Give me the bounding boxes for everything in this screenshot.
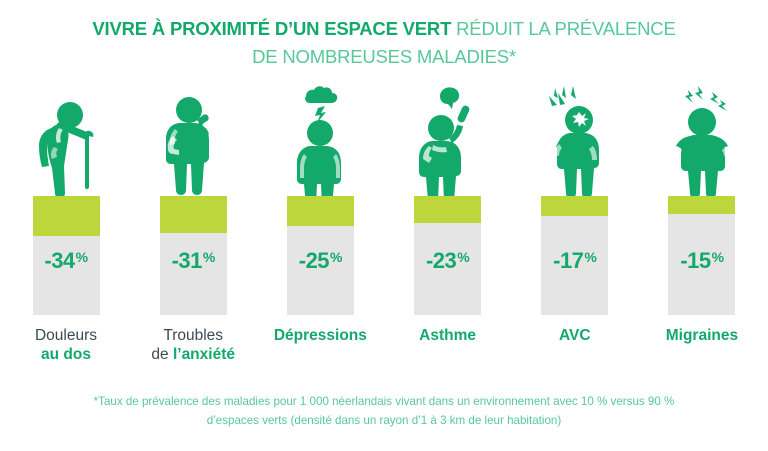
person-stroke-head-x-icon: [523, 78, 627, 196]
column-label: Troubles de l’anxiété: [128, 326, 258, 364]
bar-value-label: -34%: [33, 248, 100, 274]
chart-column-stroke: -17% AVC: [523, 78, 627, 368]
bar-migraine: -15%: [668, 196, 735, 315]
chart-column-depression: -25% Dépressions: [268, 78, 372, 368]
footnote-line-1: *Taux de prévalence des maladies pour 1 …: [94, 395, 675, 408]
bar-value-number: -25: [299, 248, 329, 273]
bar-fill: [668, 196, 735, 214]
chart-column-anxiety: -31% Troubles de l’anxiété: [141, 78, 245, 368]
chart-column-back-pain: -34% Douleurs au dos: [14, 78, 118, 368]
infographic-root: VIVRE À PROXIMITÉ D’UN ESPACE VERT RÉDUI…: [0, 0, 768, 451]
column-label: Migraines: [637, 326, 767, 345]
person-migraine-hands-head-icon: [650, 78, 754, 196]
bar-chart: -34% Douleurs au dos: [0, 78, 768, 368]
bar-stroke: -17%: [541, 196, 608, 315]
title-line-1: VIVRE À PROXIMITÉ D’UN ESPACE VERT RÉDUI…: [0, 16, 768, 44]
column-label-key: Migraines: [666, 327, 738, 344]
bar-value-label: -31%: [160, 248, 227, 274]
person-depression-storm-cloud-icon: [268, 78, 372, 196]
bar-value-percent: %: [712, 249, 724, 265]
column-label-key: au dos: [41, 346, 91, 363]
bar-value-label: -23%: [414, 248, 481, 274]
bar-fill: [541, 196, 608, 216]
chart-column-migraine: -15% Migraines: [650, 78, 754, 368]
person-back-pain-cane-icon: [14, 78, 118, 196]
column-label-prefix: de: [151, 346, 173, 363]
page-title: VIVRE À PROXIMITÉ D’UN ESPACE VERT RÉDUI…: [0, 16, 768, 70]
footnote-line-2: d’espaces verts (densité dans un rayon d…: [207, 414, 561, 427]
bar-value-percent: %: [584, 249, 596, 265]
column-label-key: Asthme: [419, 327, 476, 344]
column-label-key: AVC: [559, 327, 591, 344]
person-anxiety-nail-biting-icon: [141, 78, 245, 196]
column-label-plain: Troubles: [163, 327, 223, 344]
bar-value-percent: %: [76, 249, 88, 265]
footnote: *Taux de prévalence des maladies pour 1 …: [0, 392, 768, 430]
bar-fill: [33, 196, 100, 236]
bar-fill: [160, 196, 227, 233]
bar-fill: [287, 196, 354, 226]
column-label-key: l’anxiété: [173, 346, 235, 363]
bar-value-number: -34: [44, 248, 74, 273]
title-strong: VIVRE À PROXIMITÉ D’UN ESPACE VERT: [92, 18, 451, 39]
column-label-plain: Douleurs: [35, 327, 97, 344]
column-label: Dépressions: [255, 326, 385, 345]
column-label: Asthme: [383, 326, 513, 345]
title-light-2: DE NOMBREUSES MALADIES*: [0, 44, 768, 70]
bar-value-percent: %: [330, 249, 342, 265]
chart-column-asthma: -23% Asthme: [396, 78, 500, 368]
bar-value-number: -17: [553, 248, 583, 273]
bar-value-label: -17%: [541, 248, 608, 274]
bar-value-percent: %: [457, 249, 469, 265]
column-label-key: Dépressions: [274, 327, 367, 344]
bar-value-number: -31: [172, 248, 202, 273]
bar-asthma: -23%: [414, 196, 481, 315]
bar-value-number: -15: [680, 248, 710, 273]
person-asthma-inhaler-icon: [396, 78, 500, 196]
bar-back-pain: -34%: [33, 196, 100, 315]
column-label: Douleurs au dos: [1, 326, 131, 364]
bar-anxiety: -31%: [160, 196, 227, 315]
title-light-1: RÉDUIT LA PRÉVALENCE: [451, 18, 675, 39]
bar-depression: -25%: [287, 196, 354, 315]
bar-value-percent: %: [203, 249, 215, 265]
column-label: AVC: [510, 326, 640, 345]
bar-value-label: -25%: [287, 248, 354, 274]
bar-fill: [414, 196, 481, 223]
bar-value-label: -15%: [668, 248, 735, 274]
bar-value-number: -23: [426, 248, 456, 273]
